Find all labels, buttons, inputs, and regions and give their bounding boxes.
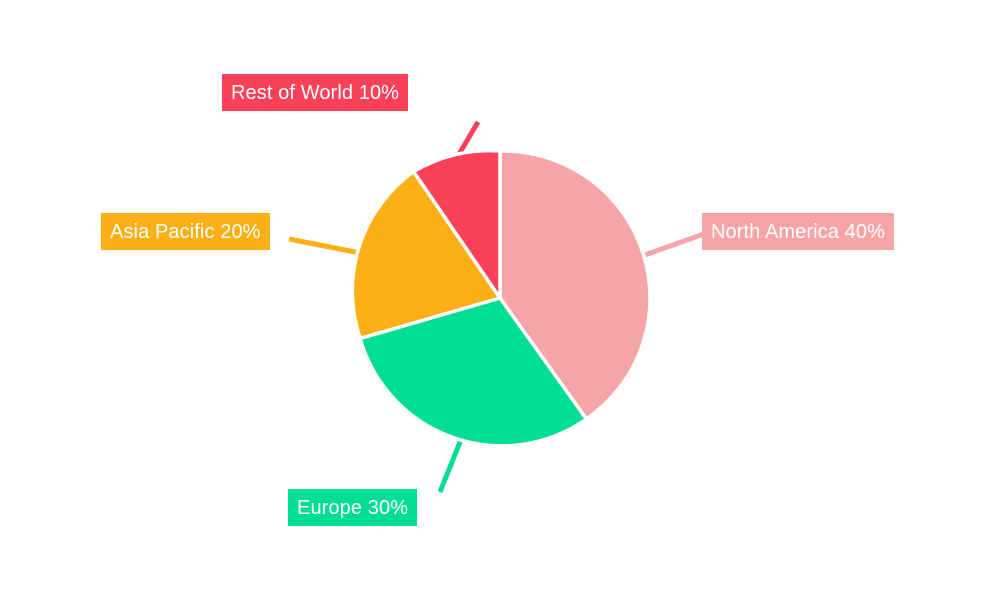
pie-chart-canvas bbox=[0, 0, 1000, 600]
pie-label-north-america-text: North America 40% bbox=[711, 222, 885, 242]
pie-label-europe-text: Europe 30% bbox=[297, 498, 408, 518]
pie-label-north-america: North America 40% bbox=[702, 213, 894, 250]
pie-label-rest-of-world: Rest of World 10% bbox=[222, 74, 408, 111]
pie-label-asia-pacific: Asia Pacific 20% bbox=[101, 213, 270, 250]
leader-line-europe bbox=[440, 437, 462, 492]
leader-line-asia-pacific bbox=[289, 239, 360, 253]
pie-label-asia-pacific-text: Asia Pacific 20% bbox=[110, 222, 261, 242]
pie-label-europe: Europe 30% bbox=[288, 489, 417, 526]
pie-chart-figure: North America 40% Europe 30% Asia Pacifi… bbox=[0, 0, 1000, 600]
pie-slices bbox=[352, 151, 650, 446]
pie-label-rest-of-world-text: Rest of World 10% bbox=[231, 83, 399, 103]
